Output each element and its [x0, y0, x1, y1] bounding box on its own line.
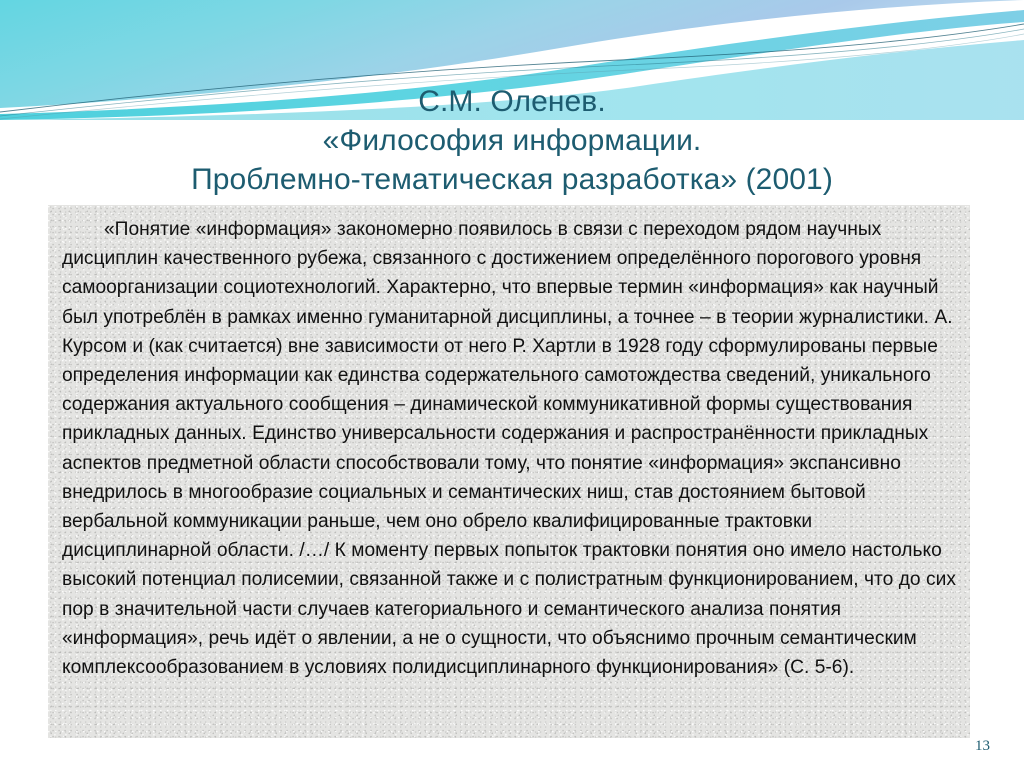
quote-text: «Понятие «информация» закономерно появил…	[62, 215, 958, 682]
quote-panel: «Понятие «информация» закономерно появил…	[48, 205, 970, 738]
slide-canvas: С.М. Оленев. «Философия информации. Проб…	[0, 0, 1024, 768]
title-line-3: Проблемно-тематическая разработка» (2001…	[0, 160, 1024, 199]
title-line-1: С.М. Оленев.	[0, 82, 1024, 121]
page-number: 13	[975, 738, 990, 755]
title-line-2: «Философия информации.	[0, 121, 1024, 160]
page-title: С.М. Оленев. «Философия информации. Проб…	[0, 82, 1024, 199]
